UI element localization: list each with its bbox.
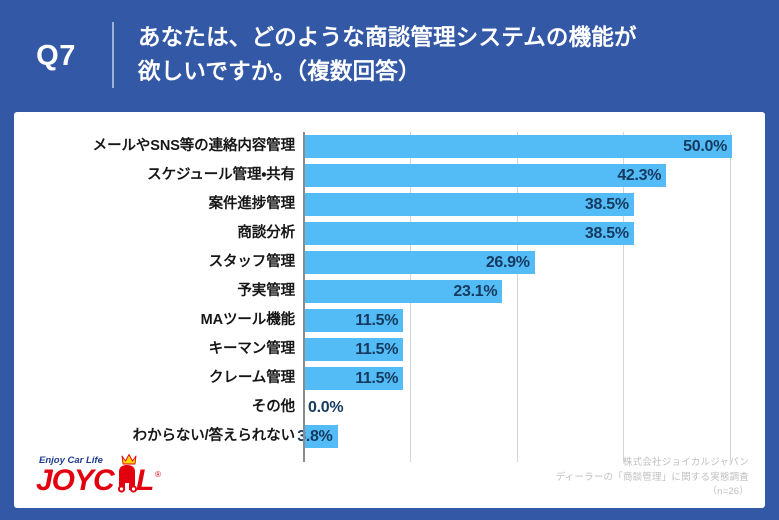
value-label: 38.5% bbox=[585, 222, 629, 245]
bar-segment[interactable]: 11.5% bbox=[305, 309, 403, 332]
bar-segment[interactable]: 38.5% bbox=[305, 222, 634, 245]
category-label: わからない/答えられない bbox=[14, 425, 295, 448]
bar-segment[interactable]: 42.3% bbox=[305, 164, 666, 187]
category-label: 予実管理 bbox=[14, 280, 295, 303]
crown-icon bbox=[122, 455, 136, 465]
value-label: 0.0% bbox=[308, 396, 343, 419]
page-title-line-1: あなたは、どのような商談管理システムの機能が bbox=[138, 21, 637, 55]
source-credit: 株式会社ジョイカルジャパン ディーラーの「商談管理」に関する実態調査 （n=26… bbox=[556, 456, 749, 500]
logo-registered-mark: ® bbox=[155, 470, 161, 479]
table-row: キーマン管理 11.5% bbox=[14, 338, 765, 361]
bar-container: 38.5% bbox=[305, 193, 634, 216]
bar-chart: メールやSNS等の連絡内容管理 50.0% スケジュール管理・共有 42.3% bbox=[14, 112, 765, 508]
bar-segment[interactable]: 38.5% bbox=[305, 193, 634, 216]
table-row: スケジュール管理・共有 42.3% bbox=[14, 164, 765, 187]
category-label: スタッフ管理 bbox=[14, 251, 295, 274]
value-label: 11.5% bbox=[355, 309, 398, 332]
category-label: 商談分析 bbox=[14, 222, 295, 245]
bar-container: 3.8% bbox=[305, 425, 338, 448]
credit-line-3: （n=26） bbox=[556, 485, 749, 500]
bar-segment[interactable]: 11.5% bbox=[305, 338, 403, 361]
value-label: 50.0% bbox=[683, 135, 727, 158]
value-axis bbox=[303, 132, 305, 462]
bar-segment[interactable]: 11.5% bbox=[305, 367, 403, 390]
bar-container: 11.5% bbox=[305, 367, 403, 390]
bar-segment[interactable]: 3.8% bbox=[305, 425, 338, 448]
value-label: 38.5% bbox=[585, 193, 629, 216]
category-label: キーマン管理 bbox=[14, 338, 295, 361]
table-row: その他 0.0% bbox=[14, 396, 765, 419]
bar-container: 42.3% bbox=[305, 164, 666, 187]
credit-line-1: 株式会社ジョイカルジャパン bbox=[556, 456, 749, 471]
table-row: メールやSNS等の連絡内容管理 50.0% bbox=[14, 135, 765, 158]
category-label: MAツール機能 bbox=[14, 309, 295, 332]
bar-segment[interactable]: 23.1% bbox=[305, 280, 502, 303]
bar-segment[interactable]: 50.0% bbox=[305, 135, 732, 158]
logo-wordmark-l: L bbox=[136, 464, 154, 497]
bar-container: 23.1% bbox=[305, 280, 502, 303]
category-label: クレーム管理 bbox=[14, 367, 295, 390]
table-row: 案件進捗管理 38.5% bbox=[14, 193, 765, 216]
bar-container: 26.9% bbox=[305, 251, 535, 274]
logo-wordmark-joyc: JOYC bbox=[36, 464, 116, 497]
credit-line-2: ディーラーの「商談管理」に関する実態調査 bbox=[556, 471, 749, 486]
value-label: 11.5% bbox=[355, 367, 398, 390]
category-label: メールやSNS等の連絡内容管理 bbox=[14, 135, 295, 158]
table-row: 予実管理 23.1% bbox=[14, 280, 765, 303]
table-row: クレーム管理 11.5% bbox=[14, 367, 765, 390]
joycal-logo-svg: Enjoy Car Life JOYC L ® bbox=[26, 450, 176, 498]
value-label: 42.3% bbox=[617, 164, 661, 187]
joycal-logo: Enjoy Car Life JOYC L ® bbox=[26, 450, 176, 498]
table-row: MAツール機能 11.5% bbox=[14, 309, 765, 332]
category-label: 案件進捗管理 bbox=[14, 193, 295, 216]
bar-container: 38.5% bbox=[305, 222, 634, 245]
bar-rows: メールやSNS等の連絡内容管理 50.0% スケジュール管理・共有 42.3% bbox=[14, 112, 765, 508]
page-title: あなたは、どのような商談管理システムの機能が 欲しいですか。（複数回答） bbox=[114, 21, 657, 89]
table-row: 商談分析 38.5% bbox=[14, 222, 765, 245]
slide-header: Q7 あなたは、どのような商談管理システムの機能が 欲しいですか。（複数回答） bbox=[0, 0, 779, 110]
chart-card: メールやSNS等の連絡内容管理 50.0% スケジュール管理・共有 42.3% bbox=[14, 112, 765, 508]
value-label: 26.9% bbox=[486, 251, 530, 274]
bar-segment[interactable]: 26.9% bbox=[305, 251, 535, 274]
table-row: わからない/答えられない 3.8% bbox=[14, 425, 765, 448]
bar-container: 11.5% bbox=[305, 309, 403, 332]
category-label: その他 bbox=[14, 396, 295, 419]
bar-container: 50.0% bbox=[305, 135, 732, 158]
value-label: 11.5% bbox=[355, 338, 398, 361]
logo-car-a-icon bbox=[118, 465, 137, 493]
question-number: Q7 bbox=[0, 40, 112, 71]
value-label: 23.1% bbox=[453, 280, 497, 303]
bar-container: 11.5% bbox=[305, 338, 403, 361]
page-title-line-2: 欲しいですか。（複数回答） bbox=[138, 55, 637, 89]
table-row: スタッフ管理 26.9% bbox=[14, 251, 765, 274]
category-label: スケジュール管理・共有 bbox=[14, 164, 295, 187]
slide-root: Q7 あなたは、どのような商談管理システムの機能が 欲しいですか。（複数回答） … bbox=[0, 0, 779, 520]
